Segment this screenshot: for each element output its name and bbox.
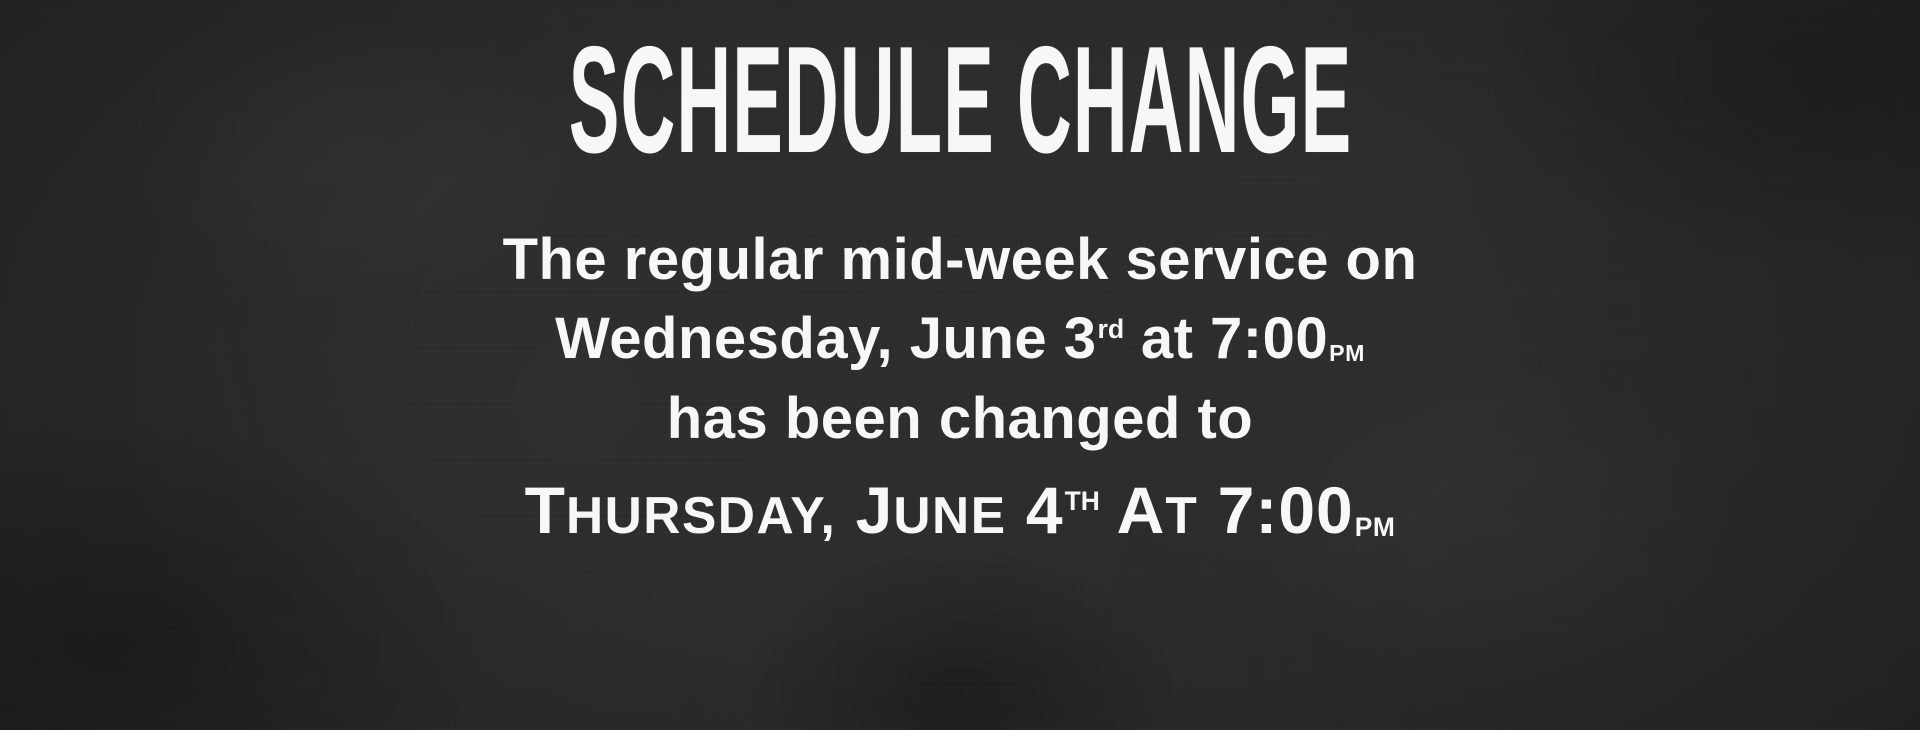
original-date-prefix: Wednesday, June: [555, 306, 1064, 371]
new-weekday-initial: T: [525, 473, 566, 547]
announcement-poster: SCHEDULE CHANGE The regular mid-week ser…: [0, 0, 1920, 730]
new-day-ordinal-suffix: TH: [1065, 486, 1100, 516]
new-day-number: 4: [1007, 473, 1064, 547]
announcement-line-original-datetime: Wednesday, June 3rd at 7:00PM: [555, 301, 1365, 376]
new-weekday-rest: HURSDAY,: [566, 486, 836, 544]
original-date-connector: at: [1124, 306, 1210, 371]
original-time-meridiem: PM: [1329, 340, 1365, 366]
announcement-line-original-service: The regular mid-week service on: [503, 222, 1418, 297]
new-time-meridiem: PM: [1355, 512, 1396, 542]
announcement-body: The regular mid-week service on Wednesda…: [503, 222, 1418, 551]
new-connector-rest: T: [1165, 486, 1198, 544]
announcement-line-new-datetime: THURSDAY, JUNE 4TH AT 7:00PM: [525, 470, 1396, 551]
page-title: SCHEDULE CHANGE: [568, 24, 1352, 176]
original-day-number: 3: [1064, 306, 1097, 371]
announcement-line-changed-to: has been changed to: [667, 381, 1253, 456]
new-month-rest: UNE: [893, 486, 1006, 544]
new-connector-initial: A: [1100, 473, 1166, 547]
new-time: 7:00: [1198, 473, 1353, 547]
new-month-initial: J: [836, 473, 893, 547]
original-time: 7:00: [1210, 306, 1328, 371]
poster-content: SCHEDULE CHANGE The regular mid-week ser…: [0, 0, 1920, 730]
original-day-ordinal-suffix: rd: [1098, 314, 1125, 344]
